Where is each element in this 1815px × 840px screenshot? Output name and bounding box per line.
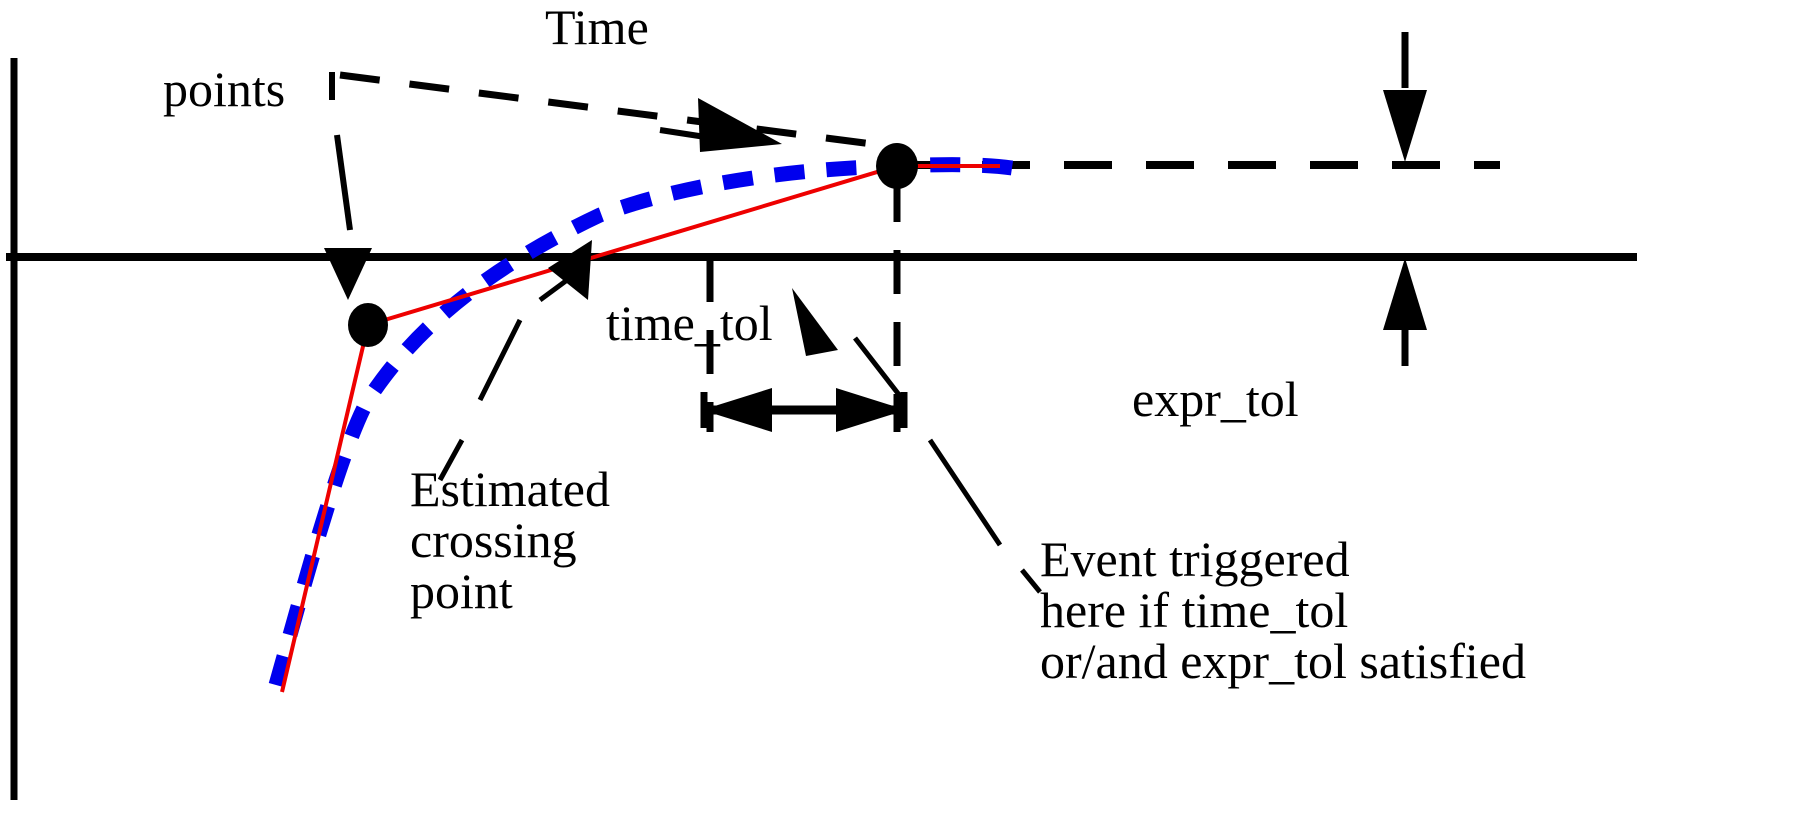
estimated-crossing-line-1: Estimated xyxy=(410,464,610,515)
points-leader-lower xyxy=(337,135,350,230)
event-detection-diagram xyxy=(0,0,1815,840)
event-arrowhead xyxy=(792,288,838,356)
event-leader-line xyxy=(855,338,1040,592)
event-triggered-line-3: or/and expr_tol satisfied xyxy=(1040,636,1526,687)
expr-tol-arrowhead-up xyxy=(1383,258,1427,330)
points-arrowhead-upper xyxy=(698,98,782,152)
points-leader-upper xyxy=(340,75,880,145)
expr-tol-arrowhead-down xyxy=(1383,90,1427,162)
event-triggered-line-1: Event triggered xyxy=(1040,534,1526,585)
estimated-crossing-line-2: crossing xyxy=(410,515,610,566)
event-triggered-line-2: here if time_tol xyxy=(1040,585,1526,636)
solution-point-first xyxy=(348,303,388,347)
axis-label-time: Time xyxy=(545,2,649,53)
label-estimated-crossing-point: Estimated crossing point xyxy=(410,464,610,617)
label-time-tol: time_tol xyxy=(606,298,773,349)
diagram-canvas: Time points time_tol expr_tol Estimated … xyxy=(0,0,1815,840)
label-expr-tol: expr_tol xyxy=(1132,374,1299,425)
numerical-polyline xyxy=(282,166,1000,692)
estimated-crossing-line-3: point xyxy=(410,566,610,617)
label-event-triggered: Event triggered here if time_tol or/and … xyxy=(1040,534,1526,687)
label-points: points xyxy=(163,64,285,115)
crossing-leader-line xyxy=(440,320,520,480)
points-arrowhead-lower xyxy=(324,248,372,300)
